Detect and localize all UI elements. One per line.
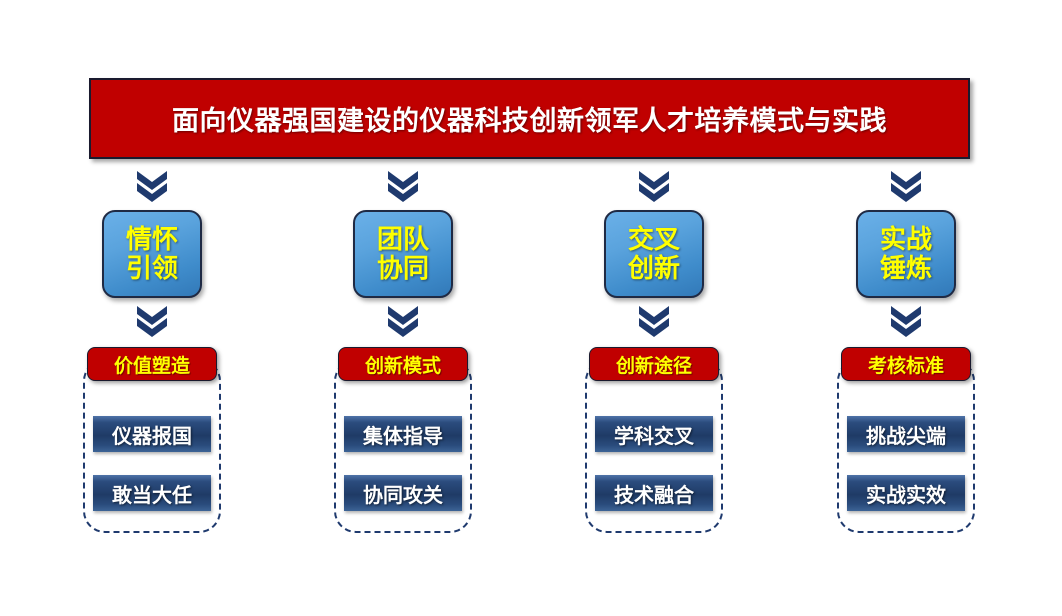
item-chip-3-1[interactable]: 学科交叉 <box>595 416 713 452</box>
category-label-text: 创新途径 <box>616 351 692 378</box>
pillar-box-4[interactable]: 实战 锤炼 <box>856 210 956 298</box>
pillar-label-line2: 创新 <box>628 254 680 283</box>
chevron-double-down-icon <box>637 170 671 202</box>
category-label-3[interactable]: 创新途径 <box>589 347 719 381</box>
pillar-label-line2: 协同 <box>377 254 429 283</box>
item-chip-2-2[interactable]: 协同攻关 <box>344 475 462 511</box>
diagram-canvas: 面向仪器强国建设的仪器科技创新领军人才培养模式与实践 情怀 引领 价值塑造 仪器… <box>0 0 1062 616</box>
item-chip-label: 仪器报国 <box>112 420 192 449</box>
pillar-box-1[interactable]: 情怀 引领 <box>102 210 202 298</box>
item-chip-label: 协同攻关 <box>363 479 443 508</box>
item-chip-3-2[interactable]: 技术融合 <box>595 475 713 511</box>
item-chip-4-1[interactable]: 挑战尖端 <box>847 416 965 452</box>
category-label-text: 创新模式 <box>365 351 441 378</box>
category-label-4[interactable]: 考核标准 <box>841 347 971 381</box>
pillar-label-line1: 交叉 <box>628 225 680 254</box>
item-chip-1-2[interactable]: 敢当大任 <box>93 475 211 511</box>
item-chip-label: 敢当大任 <box>112 479 192 508</box>
item-chip-2-1[interactable]: 集体指导 <box>344 416 462 452</box>
pillar-label-line1: 团队 <box>377 225 429 254</box>
pillar-label-line1: 实战 <box>880 225 932 254</box>
page-title: 面向仪器强国建设的仪器科技创新领军人才培养模式与实践 <box>172 99 887 138</box>
category-label-2[interactable]: 创新模式 <box>338 347 468 381</box>
chevron-double-down-icon <box>135 170 169 202</box>
pillar-label-line1: 情怀 <box>126 225 178 254</box>
chevron-double-down-icon <box>386 170 420 202</box>
item-chip-label: 挑战尖端 <box>866 420 946 449</box>
chevron-double-down-icon <box>889 170 923 202</box>
pillar-box-3[interactable]: 交叉 创新 <box>604 210 704 298</box>
item-chip-label: 实战实效 <box>866 479 946 508</box>
item-chip-4-2[interactable]: 实战实效 <box>847 475 965 511</box>
diagram-title-banner: 面向仪器强国建设的仪器科技创新领军人才培养模式与实践 <box>89 78 970 159</box>
pillar-box-2[interactable]: 团队 协同 <box>353 210 453 298</box>
chevron-double-down-icon <box>637 305 671 337</box>
item-chip-label: 技术融合 <box>614 479 694 508</box>
chevron-double-down-icon <box>386 305 420 337</box>
pillar-label-line2: 引领 <box>126 254 178 283</box>
chevron-double-down-icon <box>889 305 923 337</box>
pillar-label-line2: 锤炼 <box>880 254 932 283</box>
category-label-text: 价值塑造 <box>114 351 190 378</box>
category-label-1[interactable]: 价值塑造 <box>87 347 217 381</box>
item-chip-label: 学科交叉 <box>614 420 694 449</box>
chevron-double-down-icon <box>135 305 169 337</box>
item-chip-1-1[interactable]: 仪器报国 <box>93 416 211 452</box>
item-chip-label: 集体指导 <box>363 420 443 449</box>
category-label-text: 考核标准 <box>868 351 944 378</box>
